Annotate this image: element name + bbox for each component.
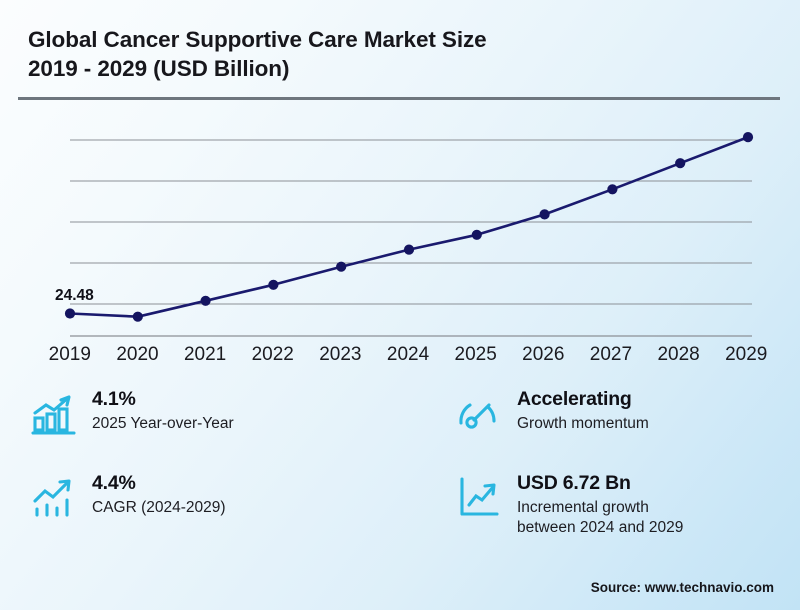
x-tick-2027: 2027	[577, 341, 645, 369]
data-point-2028	[675, 158, 685, 168]
data-point-2025	[472, 230, 482, 240]
data-point-2021	[201, 296, 211, 306]
kpi-desc-incremental: Incremental growth between 2024 and 2029	[517, 498, 683, 539]
kpi-card-incremental: USD 6.72 Bn Incremental growth between 2…	[455, 470, 775, 539]
kpi-text-yoy: 4.1% 2025 Year-over-Year	[92, 386, 234, 434]
x-axis-tick-labels: 2019202020212022202320242025202620272028…	[36, 341, 780, 369]
axes-trend-arrow-icon	[455, 470, 503, 520]
data-point-2029	[743, 132, 753, 142]
x-tick-2022: 2022	[239, 341, 307, 369]
kpi-value-incremental: USD 6.72 Bn	[517, 472, 683, 496]
kpi-text-momentum: Accelerating Growth momentum	[517, 386, 649, 434]
x-tick-2020: 2020	[104, 341, 172, 369]
x-tick-2025: 2025	[442, 341, 510, 369]
kpi-desc-momentum: Growth momentum	[517, 414, 649, 435]
data-point-2023	[336, 262, 346, 272]
kpi-card-momentum: Accelerating Growth momentum	[455, 386, 775, 470]
x-tick-2029: 2029	[712, 341, 780, 369]
chart-canvas	[0, 0, 800, 375]
data-point-2024	[404, 245, 414, 255]
kpi-value-yoy: 4.1%	[92, 388, 234, 412]
x-tick-2021: 2021	[171, 341, 239, 369]
line-chart: 24.48 2019202020212022202320242025202620…	[0, 0, 800, 375]
x-tick-2023: 2023	[307, 341, 375, 369]
data-point-2020	[133, 312, 143, 322]
gauge-speedometer-icon	[455, 386, 503, 436]
x-tick-2019: 2019	[36, 341, 104, 369]
x-tick-2028: 2028	[645, 341, 713, 369]
data-point-label-2019: 24.48	[55, 287, 94, 305]
data-point-2022	[268, 280, 278, 290]
kpi-grid: 4.1% 2025 Year-over-Year Accelerating Gr…	[30, 386, 775, 539]
series-line-market-size	[70, 137, 748, 317]
series-markers	[65, 132, 753, 322]
kpi-text-cagr: 4.4% CAGR (2024-2029)	[92, 470, 226, 518]
trend-bars-arrow-icon	[30, 470, 78, 520]
data-point-2026	[540, 209, 550, 219]
kpi-desc-yoy: 2025 Year-over-Year	[92, 414, 234, 435]
data-point-2027	[607, 184, 617, 194]
x-tick-2026: 2026	[509, 341, 577, 369]
x-tick-2024: 2024	[374, 341, 442, 369]
gridlines	[70, 140, 752, 336]
kpi-value-momentum: Accelerating	[517, 388, 649, 412]
kpi-value-cagr: 4.4%	[92, 472, 226, 496]
kpi-desc-cagr: CAGR (2024-2029)	[92, 498, 226, 519]
bar-chart-growth-icon	[30, 386, 78, 436]
kpi-card-cagr: 4.4% CAGR (2024-2029)	[30, 470, 455, 539]
kpi-card-yoy: 4.1% 2025 Year-over-Year	[30, 386, 455, 470]
data-point-2019	[65, 308, 75, 318]
source-note: Source: www.technavio.com	[591, 580, 774, 595]
kpi-text-incremental: USD 6.72 Bn Incremental growth between 2…	[517, 470, 683, 539]
